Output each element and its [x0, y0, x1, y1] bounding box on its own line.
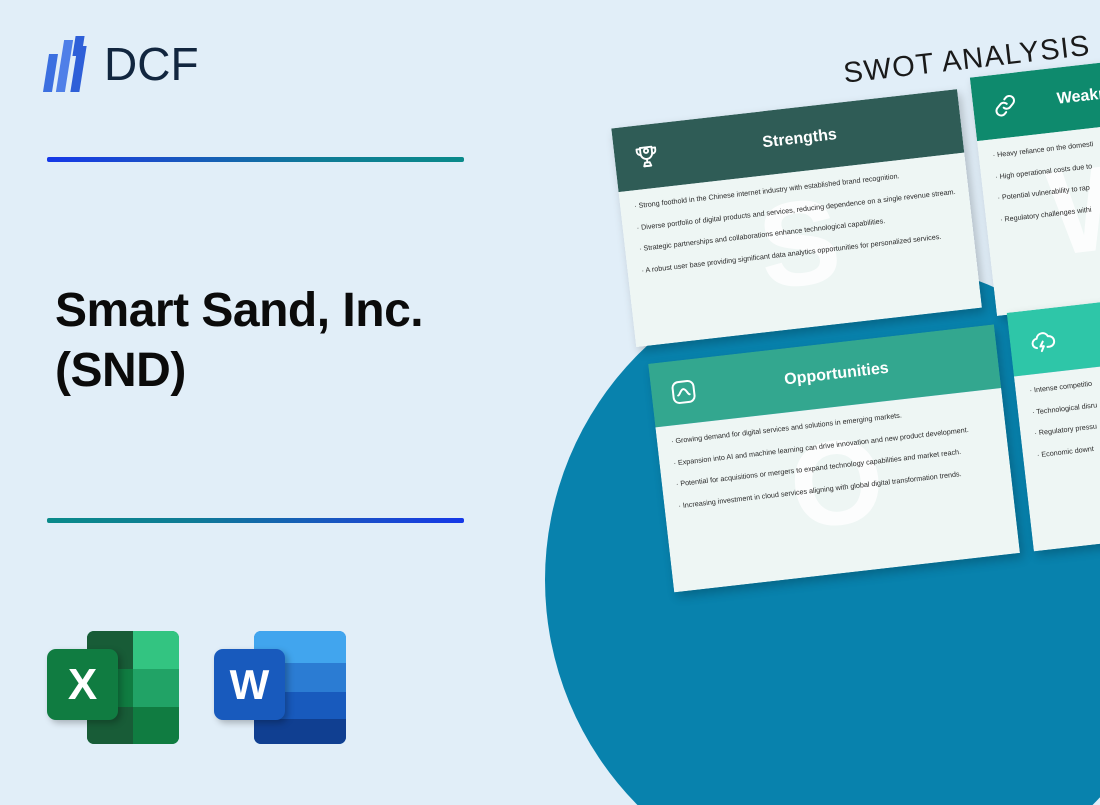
swot-illustration: SWOT ANALYSIS: [500, 0, 1100, 805]
swot-card-strengths: Strengths S Strong foothold in the Chine…: [611, 89, 982, 347]
cloud-lightning-icon: [1027, 326, 1058, 357]
divider-bottom: [47, 518, 464, 523]
link-icon: [990, 90, 1021, 121]
list-item: Increasing investment in cloud services …: [678, 466, 997, 511]
export-format-icons: X W: [47, 623, 347, 745]
page-title: Smart Sand, Inc. (SND): [55, 281, 515, 402]
excel-icon[interactable]: X: [47, 623, 180, 745]
list-item: A robust user base providing significant…: [641, 231, 960, 276]
swot-board: SWOT ANALYSIS: [598, 18, 1100, 598]
threats-body: T Intense competitio Technological disru…: [1014, 349, 1100, 551]
page-root: DCF Smart Sand, Inc. (SND) X W SWOT ANAL…: [0, 0, 1100, 805]
threats-list: Intense competitio Technological disru R…: [1029, 363, 1100, 460]
swot-card-weaknesses: Weaknesses W Heavy reliance on the domes…: [970, 50, 1100, 316]
word-icon-letter: W: [214, 649, 285, 720]
brand-name: DCF: [104, 41, 199, 87]
divider-top: [47, 157, 464, 162]
weaknesses-list: Heavy reliance on the domesti High opera…: [992, 127, 1100, 224]
word-icon[interactable]: W: [214, 623, 347, 745]
swot-card-opportunities: Opportunities O Growing demand for digit…: [648, 324, 1020, 592]
excel-icon-letter: X: [47, 649, 118, 720]
brand-logo: DCF: [44, 36, 199, 92]
swot-card-threats: Threats T Intense competitio Technologic…: [1007, 286, 1100, 552]
swot-grid: Strengths S Strong foothold in the Chine…: [611, 65, 1100, 595]
weaknesses-body: W Heavy reliance on the domesti High ope…: [977, 114, 1100, 316]
trend-line-icon: [668, 376, 699, 407]
trophy-icon: [631, 141, 662, 172]
dcf-bars-logo: [44, 36, 90, 92]
